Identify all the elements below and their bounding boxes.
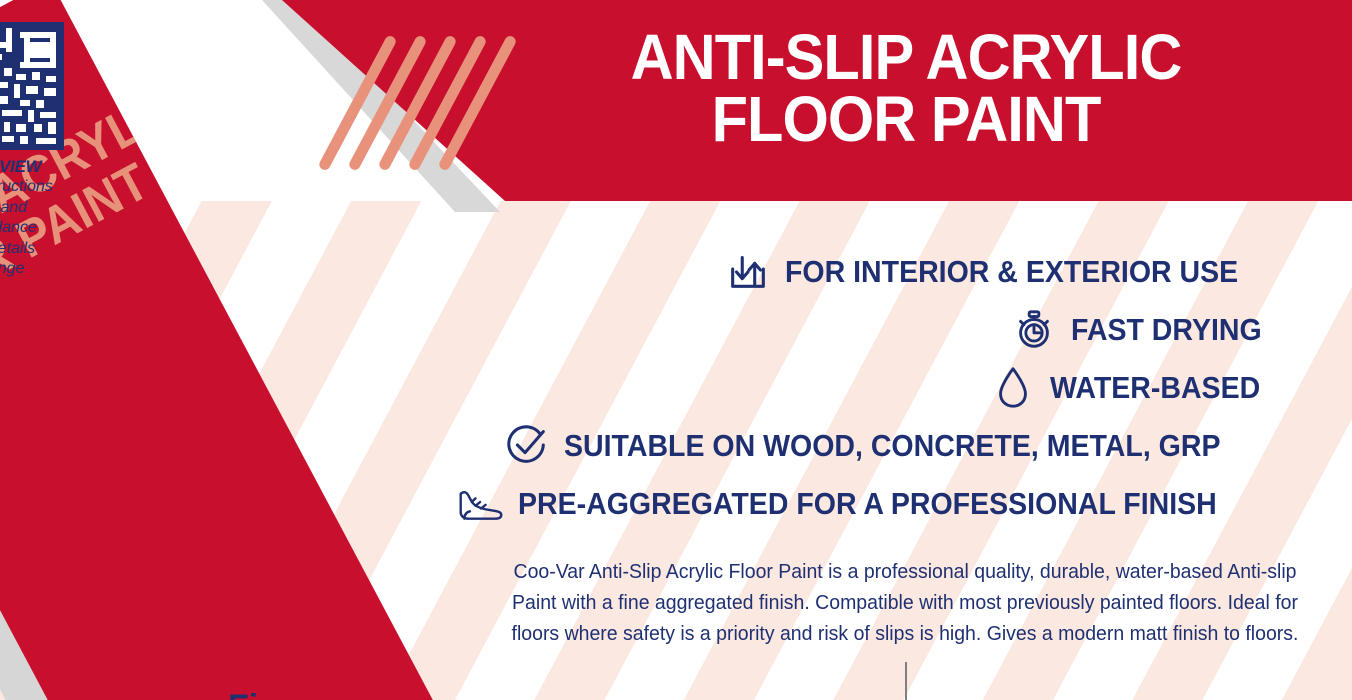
qr-caption-line-2: ical and	[0, 198, 88, 218]
feature-item-interior-exterior: FOR INTERIOR & EXTERIOR USE	[0, 246, 1330, 296]
decorative-slashes	[352, 28, 492, 160]
bottom-cutoff-heading: Fi	[228, 690, 258, 700]
water-drop-icon	[988, 362, 1038, 412]
product-label: ANTI-SLIP ACRYLIC FLOOR PAINT ANTI-SLIP …	[0, 0, 1352, 700]
feature-item-water-based: WATER-BASED	[0, 362, 1330, 412]
feature-label-pre-aggregated: PRE-AGGREGATED FOR A PROFESSIONAL FINISH	[518, 488, 1217, 519]
feature-item-suitable-surfaces: SUITABLE ON WOOD, CONCRETE, METAL, GRP	[0, 420, 1330, 470]
feature-item-pre-aggregated: PRE-AGGREGATED FOR A PROFESSIONAL FINISH	[0, 478, 1330, 528]
product-description: Coo-Var Anti-Slip Acrylic Floor Paint is…	[492, 556, 1319, 649]
stopwatch-icon	[1009, 304, 1059, 354]
feature-list: FOR INTERIOR & EXTERIOR USE FAST DRYING	[0, 246, 1330, 536]
qr-caption-line-1: instructions	[0, 177, 88, 197]
product-title-line-2: FLOOR PAINT	[534, 88, 1278, 150]
feature-label-suitable-surfaces: SUITABLE ON WOOD, CONCRETE, METAL, GRP	[564, 430, 1220, 461]
qr-caption-line-3: guidance	[0, 218, 88, 238]
bottom-section-divider	[905, 662, 907, 700]
qr-caption-heading: TO VIEW	[0, 157, 88, 176]
interior-exterior-icon	[723, 246, 773, 296]
qr-code-block[interactable]: TO VIEW instructions ical and guidance c…	[0, 22, 88, 279]
feature-label-water-based: WATER-BASED	[1050, 372, 1260, 403]
product-title: ANTI-SLIP ACRYLIC FLOOR PAINT	[506, 26, 1306, 150]
product-title-line-1: ANTI-SLIP ACRYLIC	[534, 26, 1278, 88]
qr-code-icon[interactable]	[0, 22, 64, 150]
feature-item-fast-drying: FAST DRYING	[0, 304, 1330, 354]
feature-label-interior-exterior: FOR INTERIOR & EXTERIOR USE	[785, 256, 1238, 287]
shoe-icon	[456, 478, 506, 528]
check-circle-icon	[502, 420, 552, 470]
feature-label-fast-drying: FAST DRYING	[1071, 314, 1262, 345]
